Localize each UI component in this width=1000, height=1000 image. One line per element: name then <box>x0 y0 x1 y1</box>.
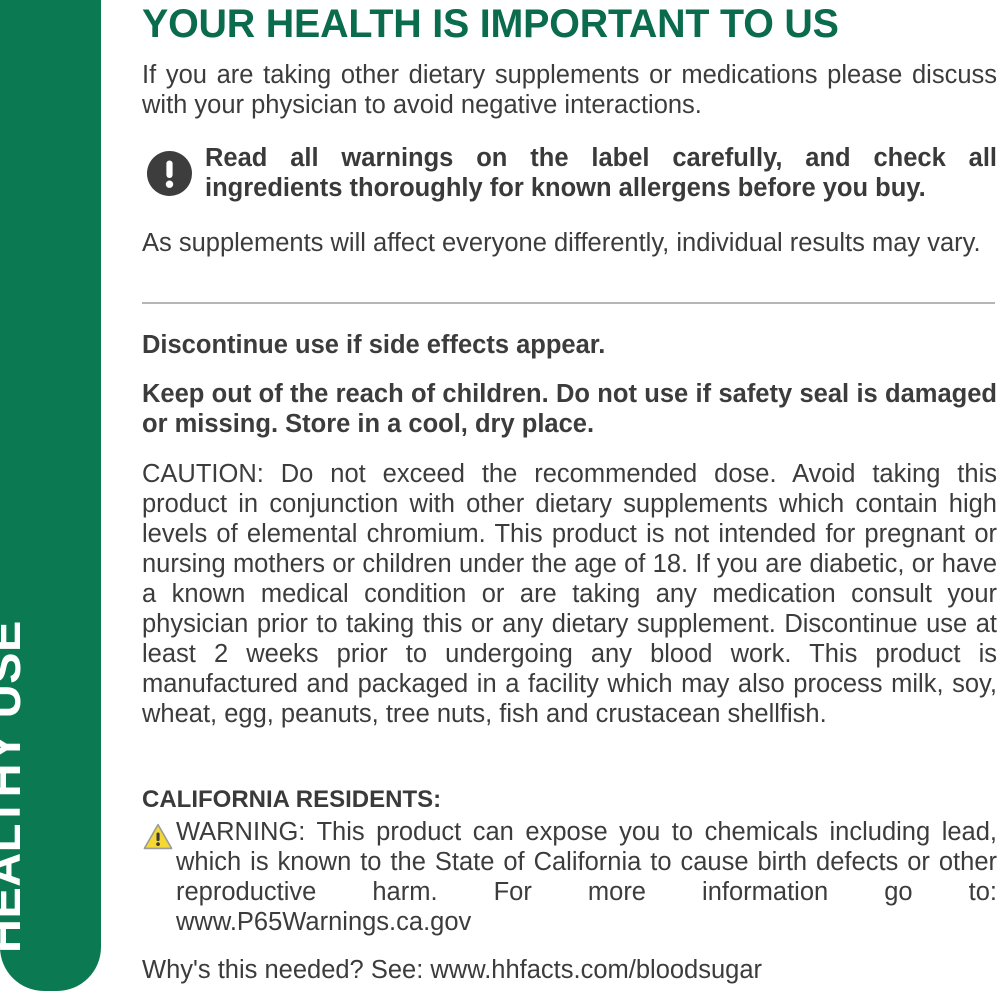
exclamation-circle-icon <box>147 151 192 196</box>
paragraph-why-needed: Why's this needed? See: www.hhfacts.com/… <box>142 955 997 985</box>
paragraph-caution-text: CAUTION: Do not exceed the recommended d… <box>142 459 997 729</box>
paragraph-individual-results-text: As supplements will affect everyone diff… <box>142 228 997 258</box>
paragraph-individual-results: As supplements will affect everyone diff… <box>142 228 997 258</box>
sidebar-healthy-use: HEALTHY USE <box>0 0 101 991</box>
callout-read-all-warnings-text: Read all warnings on the label carefully… <box>205 143 997 203</box>
paragraph-interactions: If you are taking other dietary suppleme… <box>142 60 997 120</box>
paragraph-discontinue-use-text: Discontinue use if side effects appear. <box>142 330 997 360</box>
paragraph-why-needed-text: Why's this needed? See: www.hhfacts.com/… <box>142 955 997 985</box>
warning-triangle-icon <box>143 823 173 850</box>
section-divider <box>142 302 995 304</box>
supplement-label-panel: HEALTHY USE YOUR HEALTH IS IMPORTANT TO … <box>0 0 1000 1000</box>
label-content: YOUR HEALTH IS IMPORTANT TO US If you ar… <box>142 0 997 1000</box>
page-title: YOUR HEALTH IS IMPORTANT TO US <box>142 2 984 46</box>
heading-california-residents: CALIFORNIA RESIDENTS: <box>142 786 997 814</box>
callout-read-all-warnings: Read all warnings on the label carefully… <box>142 143 997 203</box>
paragraph-keep-out-of-reach-text: Keep out of the reach of children. Do no… <box>142 379 997 439</box>
paragraph-keep-out-of-reach: Keep out of the reach of children. Do no… <box>142 379 997 439</box>
paragraph-discontinue-use: Discontinue use if side effects appear. <box>142 330 997 360</box>
paragraph-prop65-warning: WARNING: This product can expose you to … <box>142 817 997 937</box>
sidebar-label-healthy-use: HEALTHY USE <box>0 620 27 953</box>
paragraph-prop65-warning-text: WARNING: This product can expose you to … <box>176 817 997 937</box>
paragraph-caution: CAUTION: Do not exceed the recommended d… <box>142 459 997 729</box>
paragraph-interactions-text: If you are taking other dietary suppleme… <box>142 60 997 120</box>
heading-california-residents-text: CALIFORNIA RESIDENTS: <box>142 786 441 813</box>
